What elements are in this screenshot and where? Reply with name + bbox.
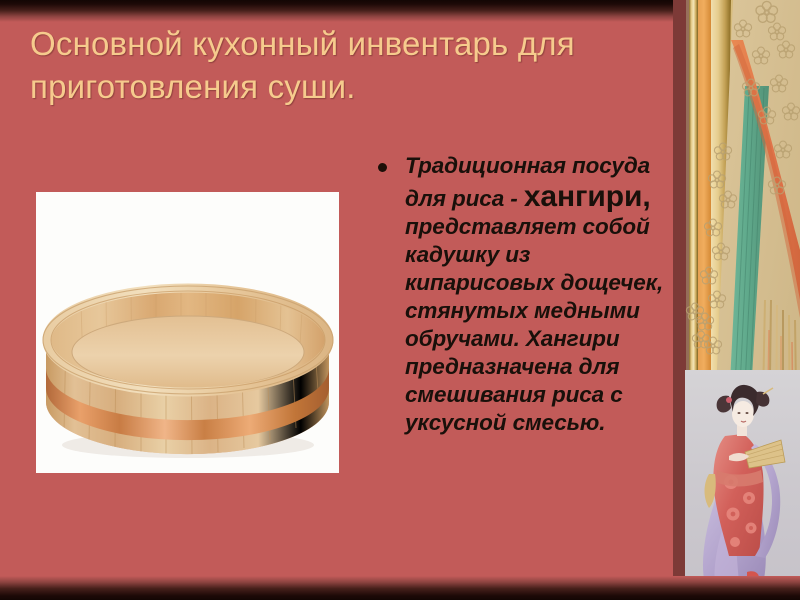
- bullet-paragraph-block: Традиционная посуда для риса - хангири, …: [374, 152, 674, 437]
- face: [732, 401, 754, 427]
- geisha-image-frame: [685, 370, 800, 592]
- geisha-illustration: [685, 370, 800, 592]
- kimono-fabric-border: [673, 0, 800, 600]
- hangiri-image-frame: [36, 192, 339, 473]
- bullet-text-emphasis: хангири,: [524, 180, 651, 213]
- page-title: Основной кухонный инвентарь для приготов…: [30, 22, 630, 108]
- bullet-dot-icon: [378, 163, 387, 172]
- bullet-text: Традиционная посуда для риса - хангири, …: [374, 152, 674, 437]
- hangiri-wooden-tub-photo: [36, 192, 339, 473]
- bullet-text-after: представляет собой кадушку из кипарисовы…: [405, 214, 663, 435]
- presentation-slide: Основной кухонный инвентарь для приготов…: [0, 0, 800, 600]
